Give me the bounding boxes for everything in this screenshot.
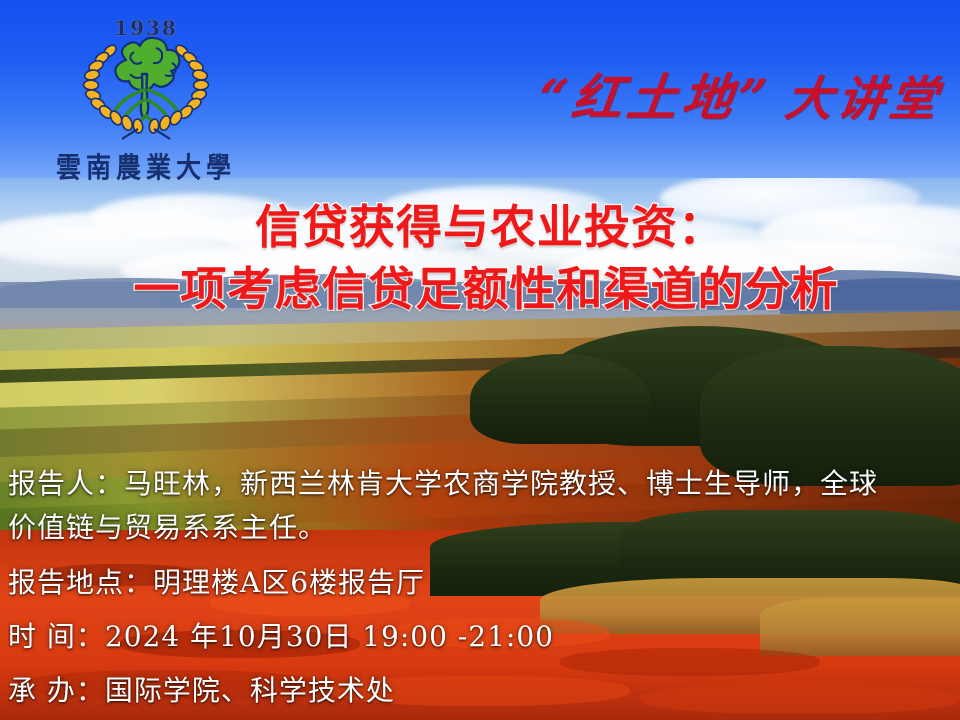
lecture-series-banner: “红土地” 大讲堂 [539,58,942,130]
speaker-line-1: 报告人：马旺林，新西兰林肯大学农商学院教授、博士生导师，全球 [8,462,960,506]
university-logo: 1938 [46,8,246,188]
time-line: 时 间：2024 年10月30日 19:00 -21:00 [8,614,960,660]
university-name-chinese: 雲南農業大學 [46,146,246,186]
tree-cluster [470,354,650,444]
lecture-details: 报告人：马旺林，新西兰林肯大学农商学院教授、博士生导师，全球 价值链与贸易系系主… [8,462,960,714]
series-name-quoted: “红土地” [535,58,776,130]
title-line-1: 信贷获得与农业投资： [0,196,960,258]
series-name-tail: 大讲堂 [782,60,946,129]
poster-canvas: 1938 [0,0,960,720]
title-line-2: 一项考虑信贷足额性和渠道的分析 [0,258,960,320]
speaker-line-2: 价值链与贸易系系主任。 [8,506,960,550]
venue-line: 报告地点：明理楼A区6楼报告厅 [8,560,960,606]
wheat-wreath-tree-emblem-icon [64,30,228,142]
organizer-line: 承 办：国际学院、科学技术处 [8,668,960,714]
lecture-title: 信贷获得与农业投资： 一项考虑信贷足额性和渠道的分析 [0,196,960,320]
